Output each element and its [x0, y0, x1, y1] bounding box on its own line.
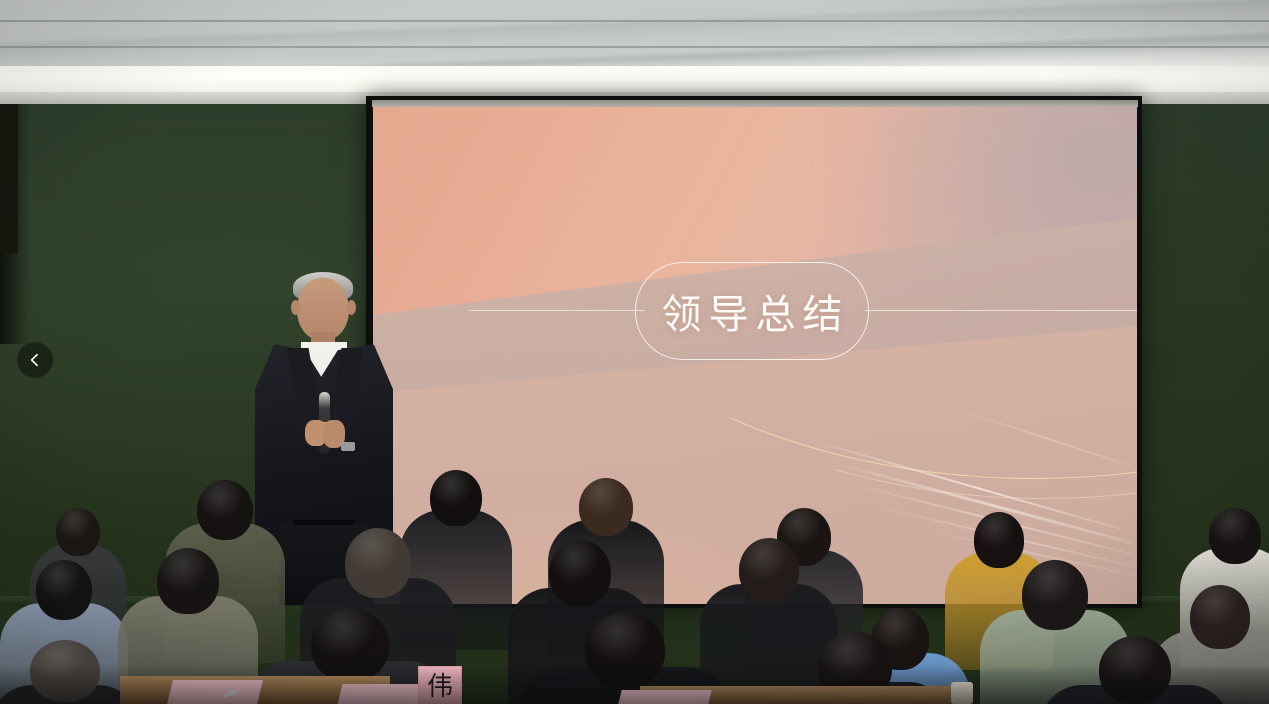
speaker-wristwatch	[341, 442, 355, 451]
attendee-head	[36, 560, 92, 620]
attendee-f5	[1040, 636, 1230, 704]
attendee-head	[1022, 560, 1088, 630]
name-placard: 伟	[418, 666, 462, 704]
ceiling-seam	[0, 20, 1269, 22]
photo-viewer-stage: 领导总结 伟	[0, 0, 1269, 704]
attendee-head	[157, 548, 219, 614]
attendee-f1	[0, 640, 140, 704]
paper-left-a	[167, 680, 263, 704]
name-placard-text: 伟	[427, 673, 453, 699]
cup-right	[951, 682, 973, 704]
ceiling-light-strip	[0, 66, 1269, 92]
ceiling-seam	[0, 46, 1269, 48]
slide-rule-right	[865, 310, 1137, 311]
slide-title: 领导总结	[655, 282, 850, 340]
attendee-head	[549, 540, 611, 606]
attendee-head	[1099, 636, 1171, 704]
speaker-head	[297, 278, 349, 340]
previous-image-button[interactable]	[17, 342, 53, 378]
paper-right-a	[618, 690, 711, 704]
projection-screen-housing	[372, 100, 1138, 107]
attendee-head	[56, 508, 100, 556]
attendee-head	[197, 480, 253, 540]
attendee-head	[311, 608, 389, 682]
attendee-head	[585, 612, 665, 688]
chevron-left-icon	[28, 353, 42, 367]
slide-title-pill: 领导总结	[635, 262, 869, 360]
attendee-head	[1209, 508, 1261, 564]
attendee-head	[579, 478, 633, 536]
wall-dark-panel	[0, 104, 18, 254]
speaker-ear	[347, 300, 356, 315]
attendee-head	[430, 470, 482, 526]
attendee-head	[345, 528, 411, 598]
slide-rule-left	[469, 310, 645, 311]
attendee-head	[739, 538, 799, 602]
attendee-head	[30, 640, 100, 702]
speaker-ear	[291, 300, 300, 315]
